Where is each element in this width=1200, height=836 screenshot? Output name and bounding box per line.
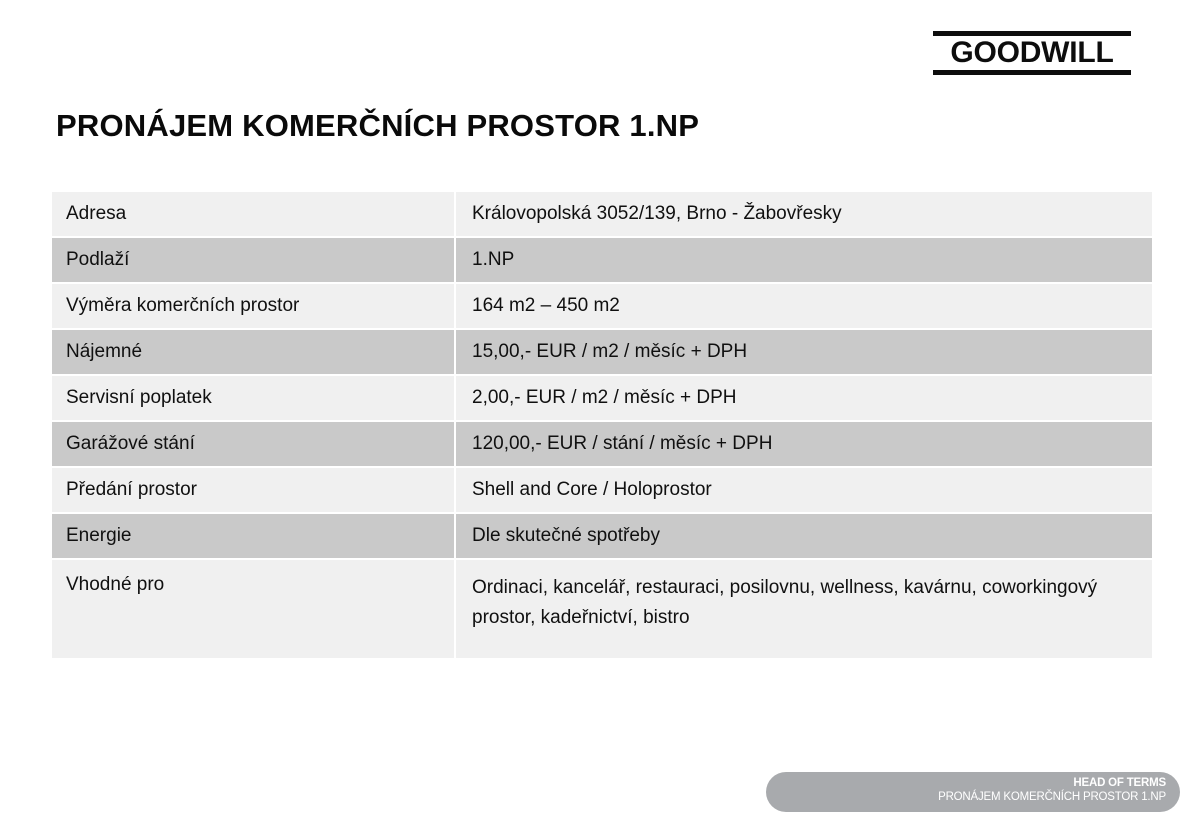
table-row: Servisní poplatek 2,00,- EUR / m2 / měsí… <box>52 376 1152 422</box>
row-value: Dle skutečné spotřeby <box>456 514 1152 560</box>
specification-table: Adresa Královopolská 3052/139, Brno - Ža… <box>52 192 1152 658</box>
table-row: Garážové stání 120,00,- EUR / stání / mě… <box>52 422 1152 468</box>
table-row: Energie Dle skutečné spotřeby <box>52 514 1152 560</box>
table-row: Předání prostor Shell and Core / Holopro… <box>52 468 1152 514</box>
row-value: Královopolská 3052/139, Brno - Žabovřesk… <box>456 192 1152 238</box>
row-label: Nájemné <box>52 330 456 376</box>
row-label: Servisní poplatek <box>52 376 456 422</box>
footer-banner: HEAD OF TERMS PRONÁJEM KOMERČNÍCH PROSTO… <box>766 772 1180 812</box>
table-row: Vhodné pro Ordinaci, kancelář, restaurac… <box>52 560 1152 658</box>
footer-title: HEAD OF TERMS <box>766 776 1166 790</box>
page-title: PRONÁJEM KOMERČNÍCH PROSTOR 1.NP <box>56 108 699 144</box>
logo-rule-bottom <box>933 70 1131 75</box>
logo-wordmark: GOODWILL <box>933 38 1131 68</box>
row-value: 164 m2 – 450 m2 <box>456 284 1152 330</box>
row-value: 2,00,- EUR / m2 / měsíc + DPH <box>456 376 1152 422</box>
footer-subtitle: PRONÁJEM KOMERČNÍCH PROSTOR 1.NP <box>766 790 1166 805</box>
table-row: Adresa Královopolská 3052/139, Brno - Ža… <box>52 192 1152 238</box>
row-label: Garážové stání <box>52 422 456 468</box>
row-label: Výměra komerčních prostor <box>52 284 456 330</box>
table-row: Výměra komerčních prostor 164 m2 – 450 m… <box>52 284 1152 330</box>
row-label: Adresa <box>52 192 456 238</box>
row-value: 1.NP <box>456 238 1152 284</box>
row-label: Podlaží <box>52 238 456 284</box>
brand-logo: GOODWILL <box>933 31 1131 75</box>
table-row: Podlaží 1.NP <box>52 238 1152 284</box>
row-value: 15,00,- EUR / m2 / měsíc + DPH <box>456 330 1152 376</box>
row-value: Ordinaci, kancelář, restauraci, posilovn… <box>456 560 1152 658</box>
table-row: Nájemné 15,00,- EUR / m2 / měsíc + DPH <box>52 330 1152 376</box>
row-label: Energie <box>52 514 456 560</box>
specification-table-body: Adresa Královopolská 3052/139, Brno - Ža… <box>52 192 1152 658</box>
row-label: Předání prostor <box>52 468 456 514</box>
row-value: 120,00,- EUR / stání / měsíc + DPH <box>456 422 1152 468</box>
row-value: Shell and Core / Holoprostor <box>456 468 1152 514</box>
row-label: Vhodné pro <box>52 560 456 658</box>
